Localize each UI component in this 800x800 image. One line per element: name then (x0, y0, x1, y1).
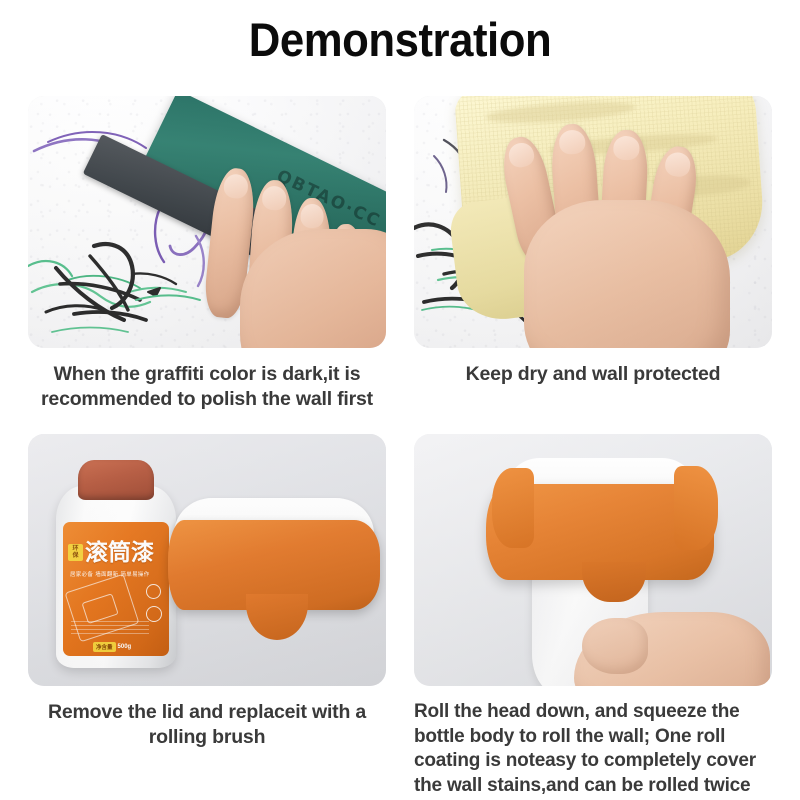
step-card-4: Roll the head down, and squeeze the bott… (414, 434, 772, 800)
roller-brush-head (168, 498, 378, 658)
step-caption-1: When the graffiti color is dark,it is re… (28, 362, 386, 412)
step-caption-3: Remove the lid and replaceit with a roll… (28, 700, 386, 750)
fingernail (507, 141, 537, 170)
demonstration-page: Demonstration (0, 0, 800, 800)
label-weight-row: 净含量 500g (93, 642, 131, 652)
label-icon-circle (146, 584, 161, 599)
steps-grid: QBTAO·CC When the graffiti color is dark… (0, 0, 800, 800)
hand-holding-bottle (574, 592, 772, 686)
label-eco-badge: 环保 (68, 544, 83, 561)
step-card-1: QBTAO·CC When the graffiti color is dark… (28, 96, 386, 412)
thumb (582, 618, 648, 674)
palm (524, 200, 730, 348)
fingernail (613, 135, 641, 160)
paint-bottle: 环保 滚筒漆 居家必备 墙面翻新 简单易操作 净含量 500g (56, 460, 176, 668)
hand-holding-sponge (204, 124, 386, 348)
bottle-cap (78, 460, 154, 500)
paint-bottle-and-roller-head-photo: 环保 滚筒漆 居家必备 墙面翻新 简单易操作 净含量 500g (28, 434, 386, 686)
label-weight-value: 500g (118, 644, 132, 650)
fingernail (223, 173, 249, 199)
step-caption-4: Roll the head down, and squeeze the bott… (414, 700, 772, 800)
roller-neck-connector (246, 594, 308, 640)
fingernail (664, 151, 693, 179)
wiping-wall-with-yellow-cloth-photo (414, 96, 772, 348)
label-fine-print (71, 618, 149, 634)
label-subtitle: 居家必备 墙面翻新 简单易操作 (70, 570, 150, 578)
fingernail (300, 204, 323, 228)
bottle-label: 环保 滚筒漆 居家必备 墙面翻新 简单易操作 净含量 500g (63, 522, 169, 656)
label-product-name: 滚筒漆 (85, 542, 154, 565)
roller-frame-right-arm (674, 466, 718, 550)
hand-wiping-wall (510, 130, 760, 348)
step-card-2: Keep dry and wall protected (414, 96, 772, 387)
step-card-3: 环保 滚筒漆 居家必备 墙面翻新 简单易操作 净含量 500g (28, 434, 386, 750)
rolling-paint-on-wall-photo (414, 434, 772, 686)
step-caption-2: Keep dry and wall protected (414, 362, 772, 387)
fingernail (558, 129, 586, 155)
label-weight-chip: 净含量 (93, 642, 116, 652)
sanding-sponge-on-graffiti-wall-photo: QBTAO·CC (28, 96, 386, 348)
roller-frame-left-arm (492, 468, 534, 548)
fingernail (261, 185, 287, 211)
